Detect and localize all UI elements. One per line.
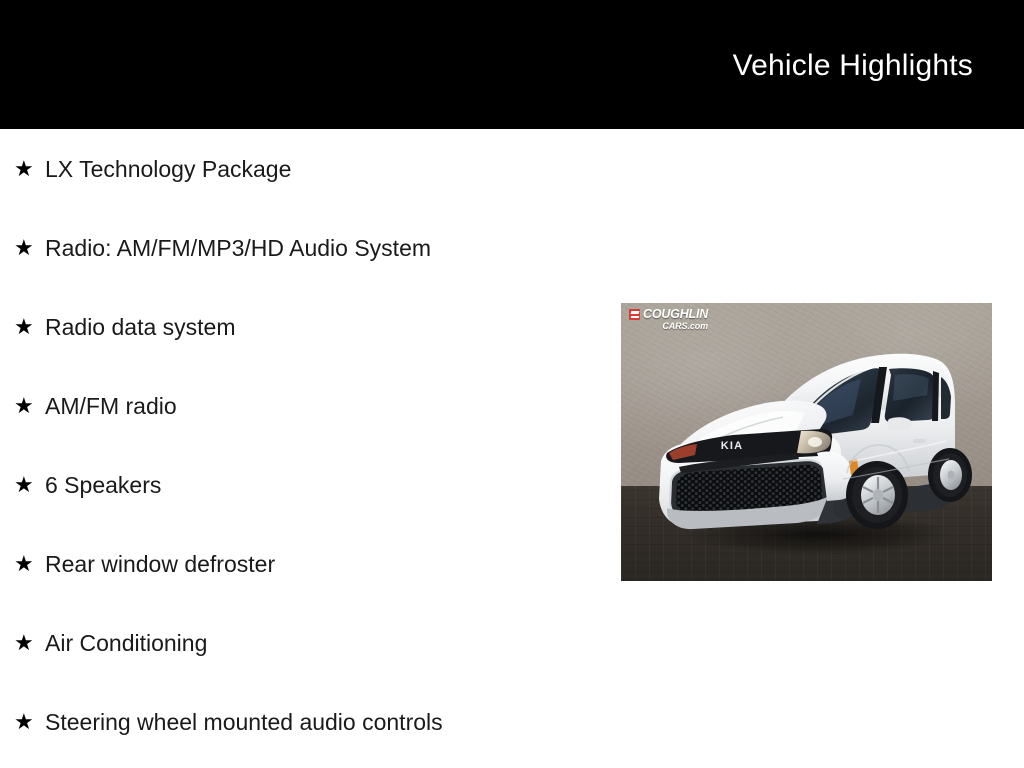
highlight-label: Air Conditioning bbox=[45, 629, 620, 657]
highlight-item: ★ Steering wheel mounted audio controls bbox=[0, 682, 620, 761]
watermark-brand: COUGHLIN bbox=[643, 308, 708, 321]
highlight-label: AM/FM radio bbox=[45, 392, 620, 420]
highlight-label: LX Technology Package bbox=[45, 155, 620, 183]
star-bullet-icon: ★ bbox=[14, 553, 45, 575]
star-bullet-icon: ★ bbox=[14, 395, 45, 417]
highlight-item: ★ AM/FM radio bbox=[0, 366, 620, 445]
coughlin-logo-icon bbox=[629, 309, 640, 320]
highlight-label: Steering wheel mounted audio controls bbox=[45, 708, 620, 736]
highlight-item: ★ 6 Speakers bbox=[0, 445, 620, 524]
star-bullet-icon: ★ bbox=[14, 711, 45, 733]
watermark-suffix: CARS.com bbox=[643, 321, 708, 332]
star-bullet-icon: ★ bbox=[14, 316, 45, 338]
svg-text:KIA: KIA bbox=[721, 440, 744, 452]
star-bullet-icon: ★ bbox=[14, 237, 45, 259]
highlight-item: ★ Rear window defroster bbox=[0, 524, 620, 603]
highlight-item: ★ LX Technology Package bbox=[0, 129, 620, 208]
vehicle-highlights-list: ★ LX Technology Package ★ Radio: AM/FM/M… bbox=[0, 129, 620, 761]
page-title: Vehicle Highlights bbox=[733, 48, 973, 84]
highlight-label: 6 Speakers bbox=[45, 471, 620, 499]
highlight-label: Radio: AM/FM/MP3/HD Audio System bbox=[45, 234, 620, 262]
star-bullet-icon: ★ bbox=[14, 158, 45, 180]
star-bullet-icon: ★ bbox=[14, 632, 45, 654]
highlight-label: Rear window defroster bbox=[45, 550, 620, 578]
front-wheel bbox=[846, 461, 908, 529]
kia-soul-illustration: KIA bbox=[621, 303, 992, 581]
kia-badge: KIA bbox=[721, 440, 744, 452]
header-band: Vehicle Highlights bbox=[0, 0, 1024, 129]
rear-wheel bbox=[928, 448, 972, 502]
highlight-label: Radio data system bbox=[45, 313, 620, 341]
highlight-item: ★ Radio data system bbox=[0, 287, 620, 366]
highlight-item: ★ Radio: AM/FM/MP3/HD Audio System bbox=[0, 208, 620, 287]
vehicle-photo[interactable]: KIA bbox=[621, 303, 992, 581]
dealer-watermark: COUGHLIN CARS.com bbox=[629, 308, 708, 332]
highlight-item: ★ Air Conditioning bbox=[0, 603, 620, 682]
star-bullet-icon: ★ bbox=[14, 474, 45, 496]
